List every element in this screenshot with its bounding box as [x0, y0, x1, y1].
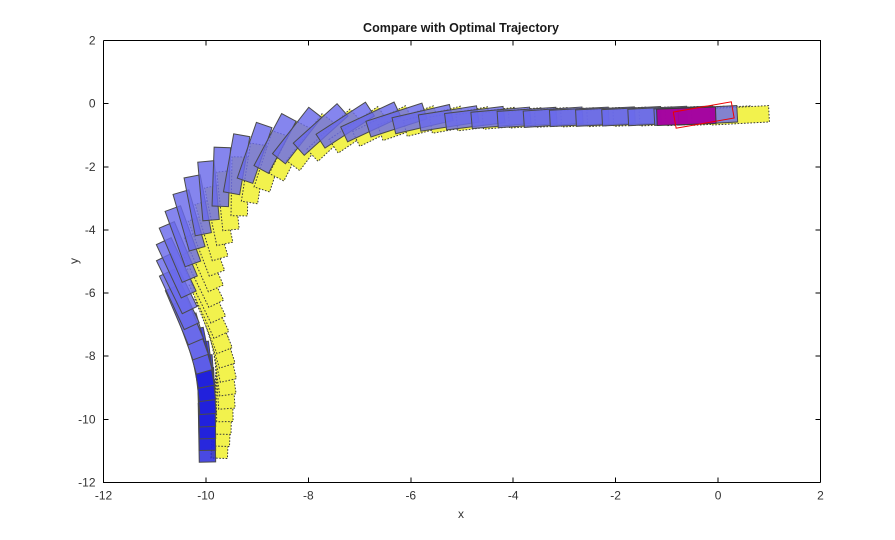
figure-background — [0, 0, 895, 540]
plot-canvas: -12-10-8-6-4-202 20-2-4-6-8-10-12 Compar… — [0, 0, 895, 540]
y-tick-label: -12 — [78, 476, 96, 490]
x-tick-label: -8 — [303, 489, 314, 503]
y-axis-label: y — [67, 258, 81, 264]
y-tick-label: -8 — [85, 349, 96, 363]
y-tick-label: -2 — [85, 160, 96, 174]
y-tick-label: -6 — [85, 286, 96, 300]
x-tick-label: -6 — [405, 489, 416, 503]
x-tick-label: -4 — [508, 489, 519, 503]
y-tick-label: 0 — [89, 97, 96, 111]
page-title: Compare with Optimal Trajectory — [363, 21, 559, 35]
y-tick-label: -10 — [78, 412, 96, 426]
x-tick-label: 2 — [817, 489, 824, 503]
x-tick-label: -2 — [610, 489, 621, 503]
x-tick-label: -10 — [197, 489, 215, 503]
x-tick-label: -12 — [95, 489, 113, 503]
x-tick-label: 0 — [715, 489, 722, 503]
matlab-figure: -12-10-8-6-4-202 20-2-4-6-8-10-12 Compar… — [0, 0, 895, 540]
x-axis-label: x — [458, 507, 464, 521]
y-tick-label: 2 — [89, 34, 96, 48]
y-tick-label: -4 — [85, 223, 96, 237]
